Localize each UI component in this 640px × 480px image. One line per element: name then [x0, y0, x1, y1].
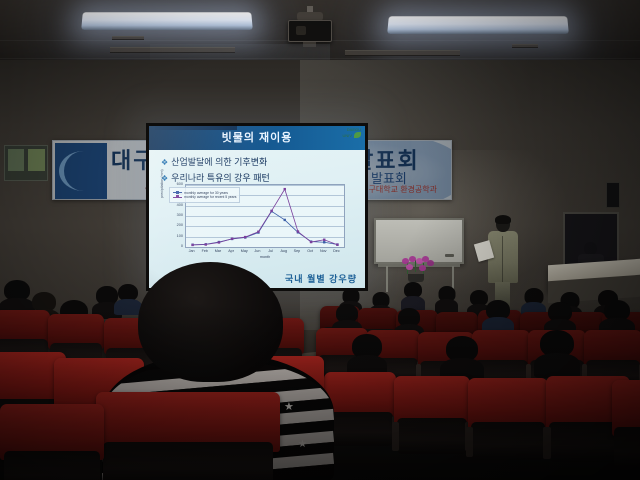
- chart-x-axis-label: month: [185, 255, 345, 259]
- audience-person: [604, 300, 630, 334]
- chart-data-point: [284, 188, 286, 190]
- chart-legend: monthly average for 30 yearsmonthly aver…: [169, 187, 240, 203]
- chart-legend-swatch: [173, 192, 182, 193]
- chart-x-tick-label: Jun: [254, 249, 260, 253]
- chart-x-tick-label: Feb: [202, 249, 208, 253]
- slide-header-bar: 빗물의 재이용 DAEGUUNIV: [149, 126, 365, 150]
- audience-person: [404, 282, 422, 308]
- chart-data-point: [218, 241, 220, 243]
- auditorium-chair: [324, 372, 396, 448]
- chart-y-tick-label: 600: [177, 182, 183, 186]
- slide-title: 빗물의 재이용: [149, 129, 365, 145]
- audience-person: [438, 286, 455, 311]
- chart-y-tick-label: 300: [177, 213, 183, 217]
- wall-notice-frame: [4, 145, 48, 181]
- chart-y-tick-label: 400: [177, 203, 183, 207]
- chart-y-tick-label: 0: [181, 244, 183, 248]
- flower-pot: [408, 274, 424, 282]
- star-motif-icon: ★: [298, 440, 307, 450]
- fluorescent-light-left: [81, 12, 253, 30]
- auditorium-chair: [612, 380, 640, 470]
- slide-bullet-item: ❖산업발달에 의한 기후변화: [161, 155, 270, 168]
- ceiling-vent: [110, 47, 235, 53]
- slide-bullet-text: 산업발달에 의한 기후변화: [171, 157, 267, 167]
- audience-person: [352, 334, 382, 374]
- star-motif-icon: ★: [284, 402, 294, 413]
- foreground-person-head: [138, 262, 283, 382]
- orchid-arrangement: [398, 256, 436, 278]
- chart-data-point: [244, 236, 246, 238]
- presenter-hair: [495, 215, 511, 224]
- wall-speaker: [606, 182, 620, 208]
- auditorium-chair: [468, 378, 548, 462]
- chart-legend-label: monthly average for recent 5 years: [184, 195, 236, 199]
- ceiling-vent-small: [112, 36, 144, 40]
- chart-x-tick-label: Jan: [189, 249, 195, 253]
- chart-x-tick-label: Dec: [333, 249, 340, 253]
- chart-data-point: [205, 243, 207, 245]
- fluorescent-light-right: [387, 16, 569, 34]
- chart-x-tick-label: Sep: [294, 249, 301, 253]
- chart-x-tick-label: Oct: [307, 249, 313, 253]
- audience-person: [446, 336, 478, 378]
- auditorium-chair-foreground: [0, 404, 104, 480]
- chart-data-point: [297, 230, 299, 232]
- lecture-hall-scene: 대구대 대구 일시 : 2009. 11. 20(금) 발표회 발표회 대구대학…: [0, 0, 640, 480]
- ceiling-projector: [288, 20, 332, 42]
- chart-data-point: [310, 241, 312, 243]
- projector-foot: [303, 42, 316, 47]
- slide-logo: DAEGUUNIV: [342, 128, 361, 139]
- leaf-icon: [354, 132, 361, 138]
- chart-data-point: [323, 239, 325, 241]
- chart-data-point: [270, 210, 272, 212]
- chart-x-tick-label: Apr: [228, 249, 234, 253]
- audience-person: [524, 288, 543, 315]
- whiteboard-marker-icon: [445, 254, 454, 257]
- chart-data-point: [191, 244, 193, 246]
- chart-legend-entry: monthly average for recent 5 years: [173, 195, 236, 199]
- audience-person: [540, 330, 574, 374]
- chart-y-tick-label: 100: [177, 234, 183, 238]
- precipitation-chart: precipitation (mm) 0100200300400500600 J…: [163, 184, 353, 262]
- audience-person: [4, 280, 30, 314]
- projector-lens-icon: [296, 26, 306, 35]
- chart-data-point: [323, 241, 325, 243]
- slide-bullet-text: 우리나라 특유의 강우 패턴: [171, 173, 270, 183]
- audience-person: [486, 300, 510, 332]
- chart-y-tick-label: 200: [177, 223, 183, 227]
- chart-x-tick-label: May: [241, 249, 248, 253]
- ceiling-vent-small: [512, 44, 538, 48]
- auditorium-chair: [394, 376, 470, 456]
- chart-x-tick-label: Jul: [268, 249, 273, 253]
- auditorium-chair-foreground: [96, 392, 280, 480]
- chart-legend-swatch: [173, 197, 182, 198]
- chart-legend-label: monthly average for 30 years: [184, 191, 228, 195]
- whiteboard-leg: [386, 266, 388, 292]
- chart-data-point: [257, 231, 259, 233]
- chart-legend-entry: monthly average for 30 years: [173, 191, 236, 195]
- chart-data-point: [284, 219, 286, 221]
- chart-line-monthly-average-for-30-years: [193, 211, 338, 244]
- presenter-coat-seam: [502, 236, 503, 282]
- chart-y-axis-label: precipitation (mm): [160, 152, 164, 198]
- chart-x-tick-label: Aug: [280, 249, 287, 253]
- ceiling-vent: [345, 50, 460, 56]
- chart-x-tick-label: Nov: [320, 249, 327, 253]
- chart-x-tick-label: Mar: [215, 249, 221, 253]
- chart-data-point: [231, 238, 233, 240]
- chart-data-point: [336, 244, 338, 246]
